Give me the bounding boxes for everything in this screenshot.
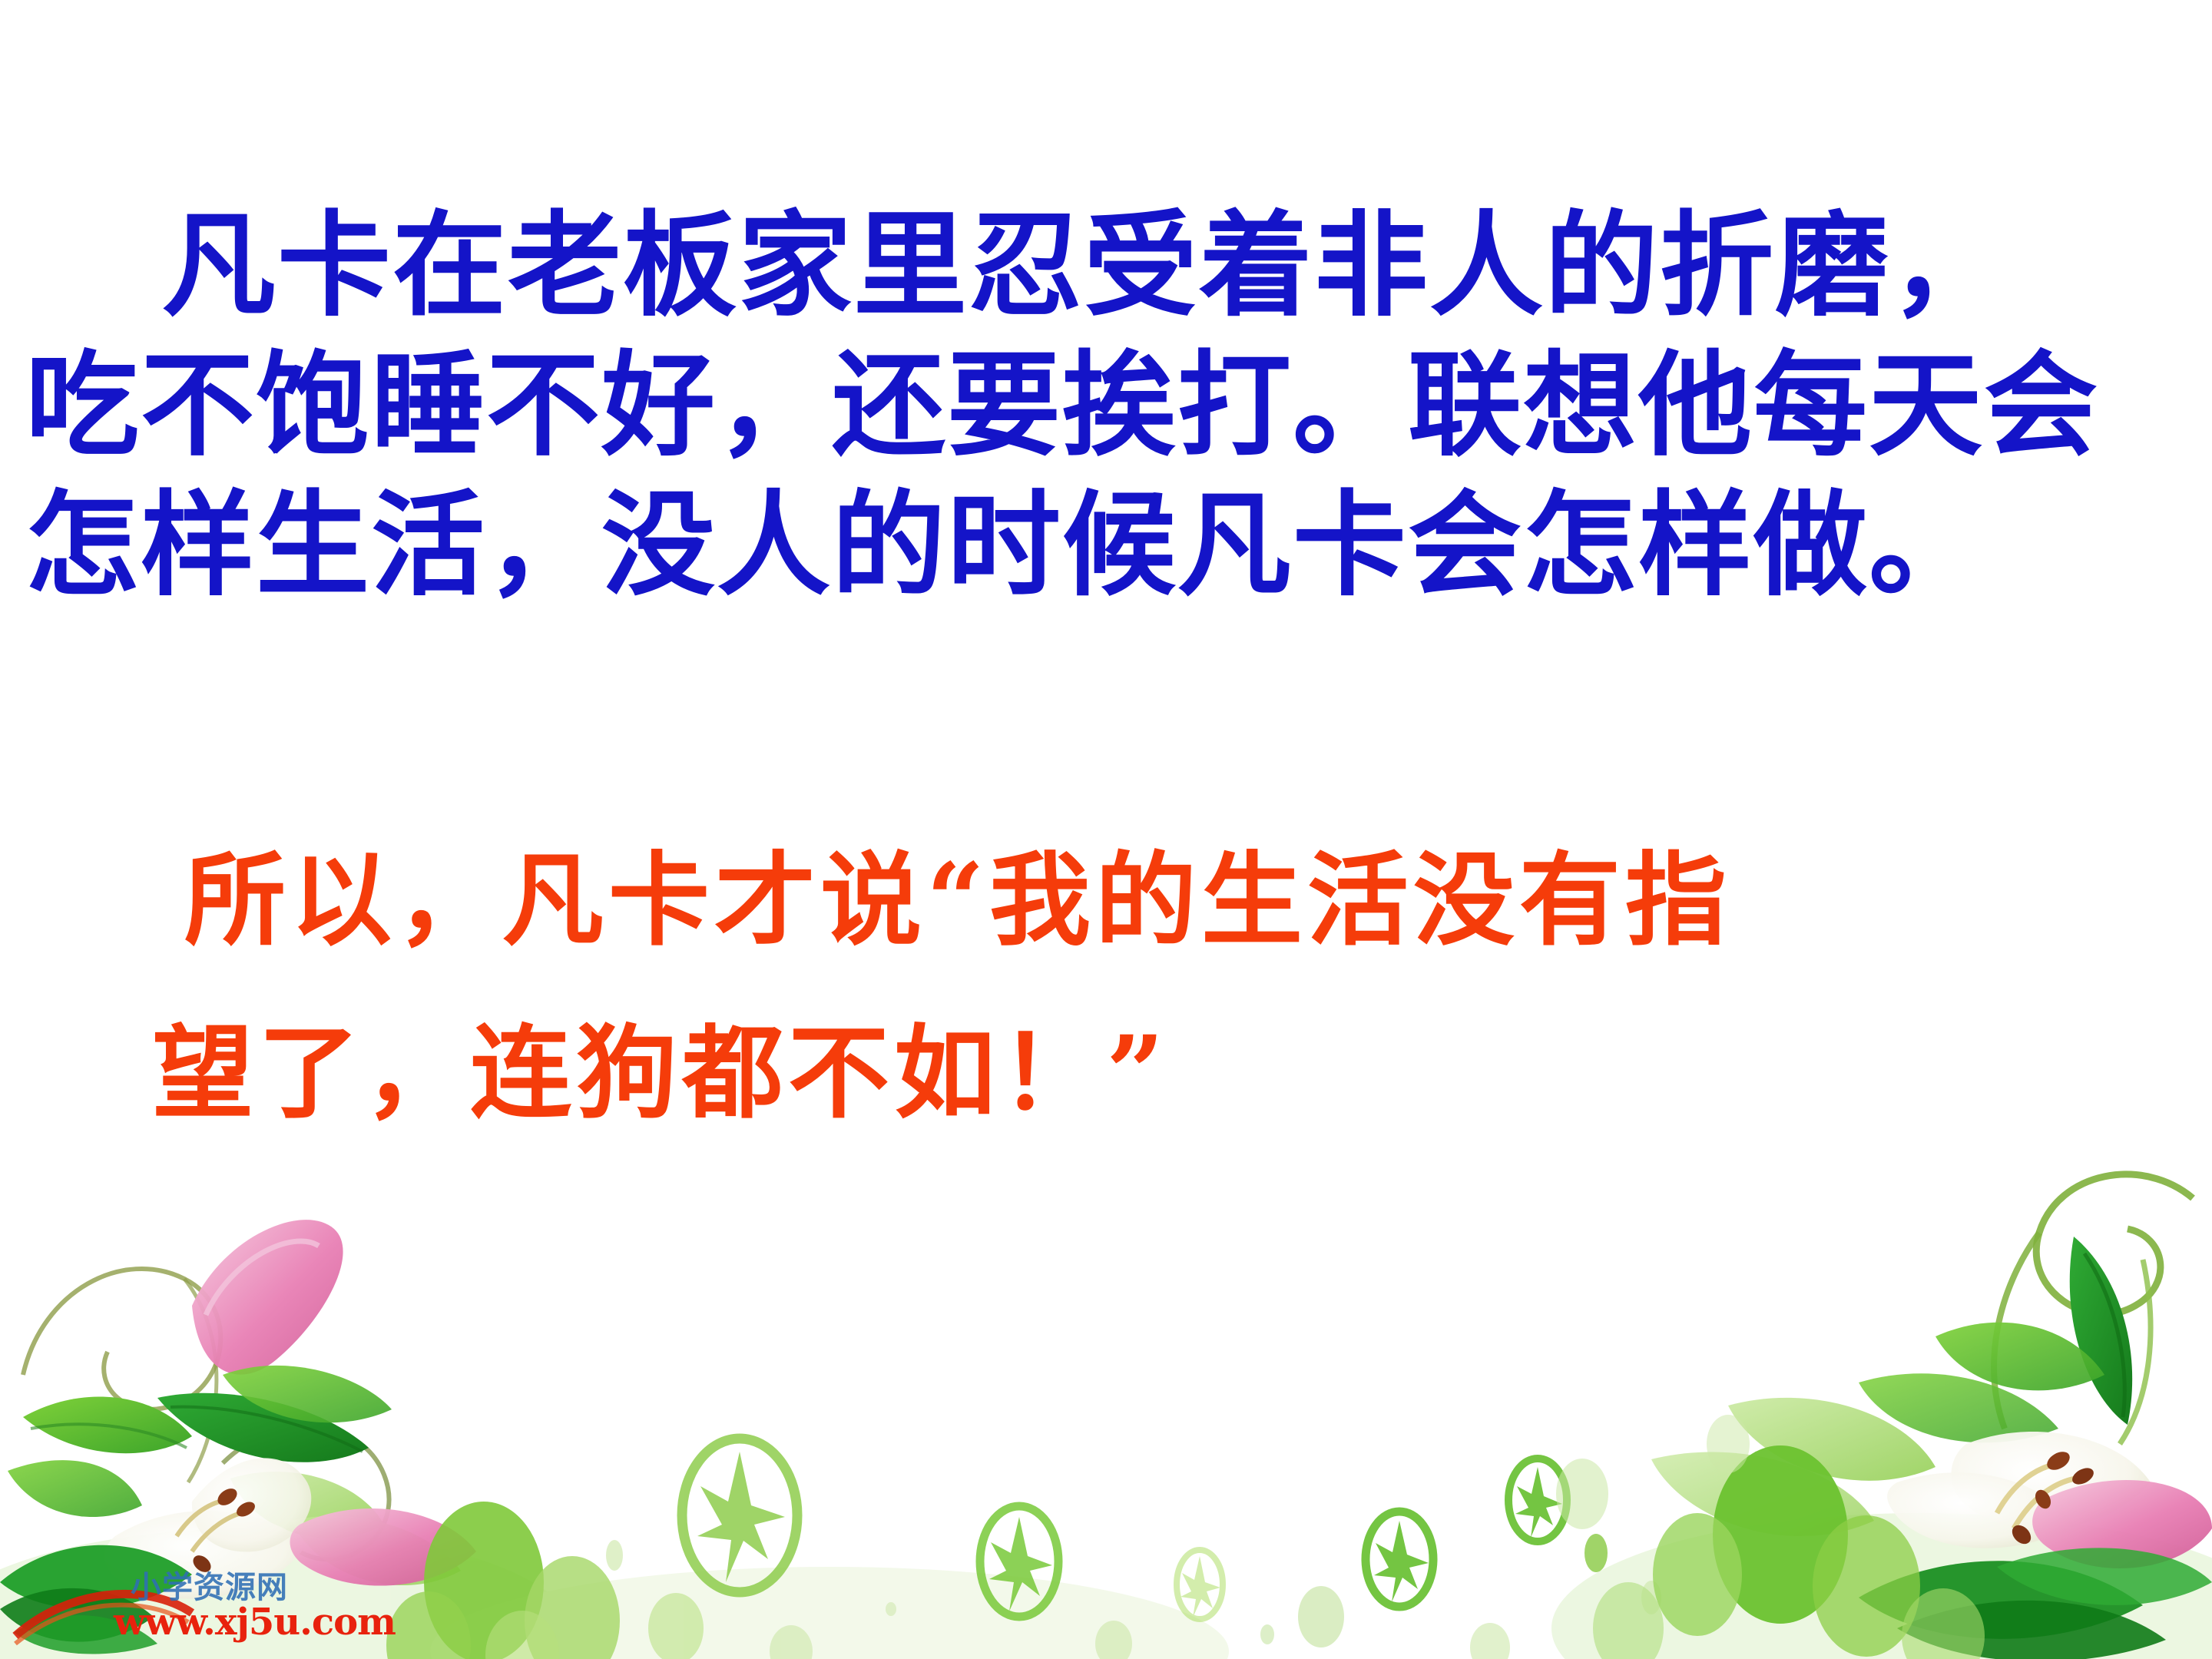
- site-watermark: 小学资源网 www.xj5u.com: [46, 1553, 369, 1651]
- red-line-2: 望了，连狗都不如！”: [0, 987, 2212, 1160]
- red-line-1: 所以，凡卡才说“我的生活没有指: [0, 814, 2212, 987]
- blue-line-3: 怎样生活，没人的时候凡卡会怎样做。: [0, 475, 2212, 615]
- blue-paragraph: 凡卡在老板家里忍受着非人的折磨， 吃不饱睡不好，还要挨打。联想他每天会 怎样生活…: [0, 196, 2212, 615]
- blue-line-2: 吃不饱睡不好，还要挨打。联想他每天会: [0, 336, 2212, 475]
- scattered-dots: [648, 1586, 1510, 1659]
- slide-canvas: 凡卡在老板家里忍受着非人的折磨， 吃不饱睡不好，还要挨打。联想他每天会 怎样生活…: [0, 0, 2212, 1659]
- ring-burst-motifs: [606, 1439, 1661, 1644]
- watermark-url: www.xj5u.com: [114, 1601, 396, 1644]
- right-floral-cluster: [1556, 1174, 2212, 1659]
- red-paragraph: 所以，凡卡才说“我的生活没有指 望了，连狗都不如！”: [0, 814, 2212, 1160]
- blue-line-1: 凡卡在老板家里忍受着非人的折磨，: [0, 196, 2212, 336]
